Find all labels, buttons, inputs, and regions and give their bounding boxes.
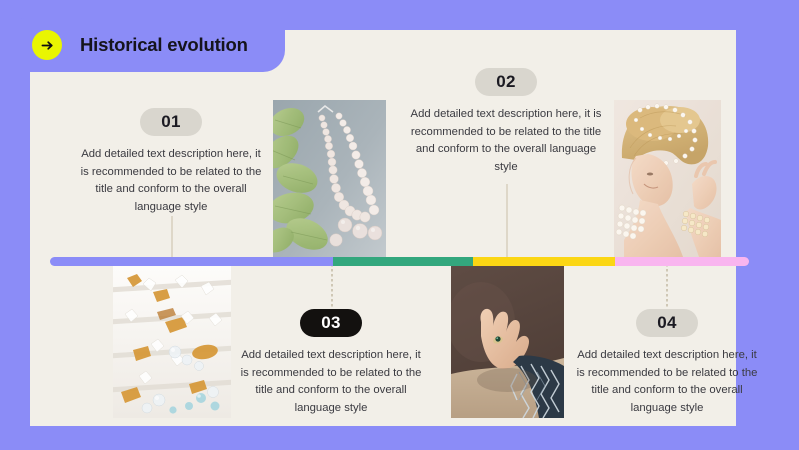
step-02: 02 Add detailed text description here, i… [410,68,602,176]
photo-bride-pearl-jewelry [614,100,721,260]
arrow-right-icon[interactable] [32,30,62,60]
timeline-segment-02[interactable] [333,257,473,266]
timeline-bar[interactable] [50,257,749,266]
step-03-badge[interactable]: 03 [300,309,362,337]
timeline-segment-01[interactable] [50,257,333,266]
step-02-description: Add detailed text description here, it i… [410,106,602,176]
timeline-segment-04[interactable] [615,257,749,266]
header-tab: Historical evolution [18,18,285,72]
step-03-number: 03 [321,313,341,333]
step-03-description: Add detailed text description here, it i… [236,347,426,417]
photo-scattered-gemstones [113,266,231,418]
step-04-number: 04 [657,313,677,333]
photo-hand-with-ring [451,262,564,418]
step-01-description: Add detailed text description here, it i… [76,146,266,216]
step-04-description: Add detailed text description here, it i… [572,347,762,417]
step-01-badge[interactable]: 01 [140,108,202,136]
step-03: 03 Add detailed text description here, i… [236,309,426,417]
connector-step-01 [171,216,173,260]
step-01-number: 01 [161,112,181,132]
photo-scattered-gemstones-image [113,266,231,418]
connector-step-02 [506,184,508,260]
connector-step-04 [666,264,668,311]
step-02-badge[interactable]: 02 [475,68,537,96]
photo-hand-with-ring-image [451,262,564,418]
photo-bride-pearl-jewelry-image [614,100,721,260]
connector-step-03 [331,264,333,311]
step-04-badge[interactable]: 04 [636,309,698,337]
timeline-segment-03[interactable] [473,257,616,266]
photo-pearl-necklace-leaves [273,100,386,260]
step-02-number: 02 [496,72,516,92]
page-title: Historical evolution [80,34,248,56]
step-04: 04 Add detailed text description here, i… [572,309,762,417]
photo-pearl-necklace-leaves-image [273,100,386,260]
step-01: 01 Add detailed text description here, i… [76,108,266,216]
